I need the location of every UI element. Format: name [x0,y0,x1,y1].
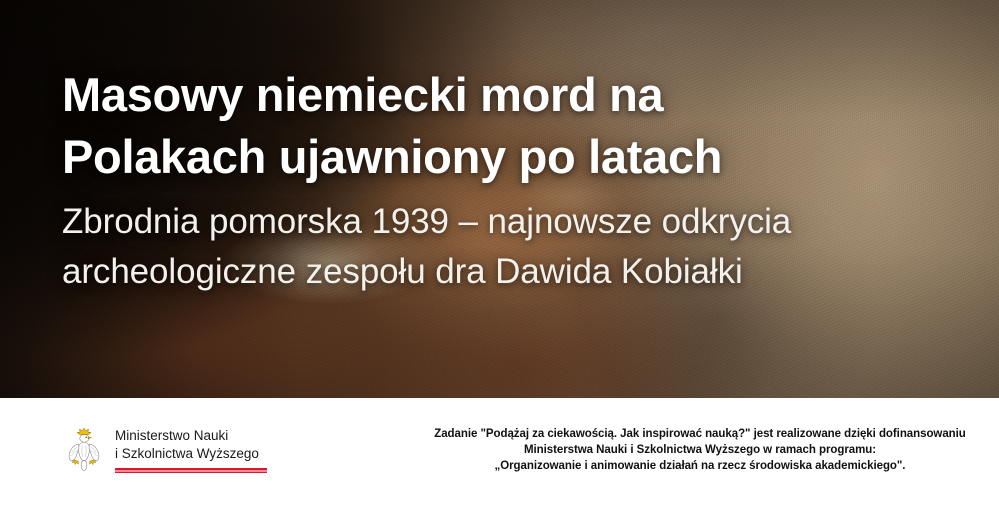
funding-line-3: „Organizowanie i animowanie działań na r… [430,458,970,474]
headline-subtitle-line-1: Zbrodnia pomorska 1939 – najnowsze odkry… [62,197,942,247]
footer-bar: Ministerstwo Nauki i Szkolnictwa Wyższeg… [0,398,999,523]
funding-statement: Zadanie "Podążaj za ciekawością. Jak ins… [430,426,970,474]
polish-eagle-emblem-icon [62,425,106,473]
headline-subtitle-block: Zbrodnia pomorska 1939 – najnowsze odkry… [62,197,942,297]
ministry-logo-text: Ministerstwo Nauki i Szkolnictwa Wyższeg… [115,425,267,473]
headline-title-line-2: Polakach ujawniony po latach [62,126,942,188]
ministry-logo-rule [115,468,267,473]
ministry-logo: Ministerstwo Nauki i Szkolnictwa Wyższeg… [62,425,267,473]
ministry-logo-line-2: i Szkolnictwa Wyższego [115,445,267,462]
page-root: Masowy niemiecki mord na Polakach ujawni… [0,0,999,523]
funding-line-1: Zadanie "Podążaj za ciekawością. Jak ins… [430,426,970,442]
headline-subtitle-line-2: archeologiczne zespołu dra Dawida Kobiał… [62,247,942,297]
hero-banner: Masowy niemiecki mord na Polakach ujawni… [0,0,999,398]
headline-title-line-1: Masowy niemiecki mord na [62,64,942,126]
headline-block: Masowy niemiecki mord na Polakach ujawni… [62,64,942,297]
ministry-logo-line-1: Ministerstwo Nauki [115,428,228,443]
funding-line-2: Ministerstwa Nauki i Szkolnictwa Wyższeg… [430,442,970,458]
